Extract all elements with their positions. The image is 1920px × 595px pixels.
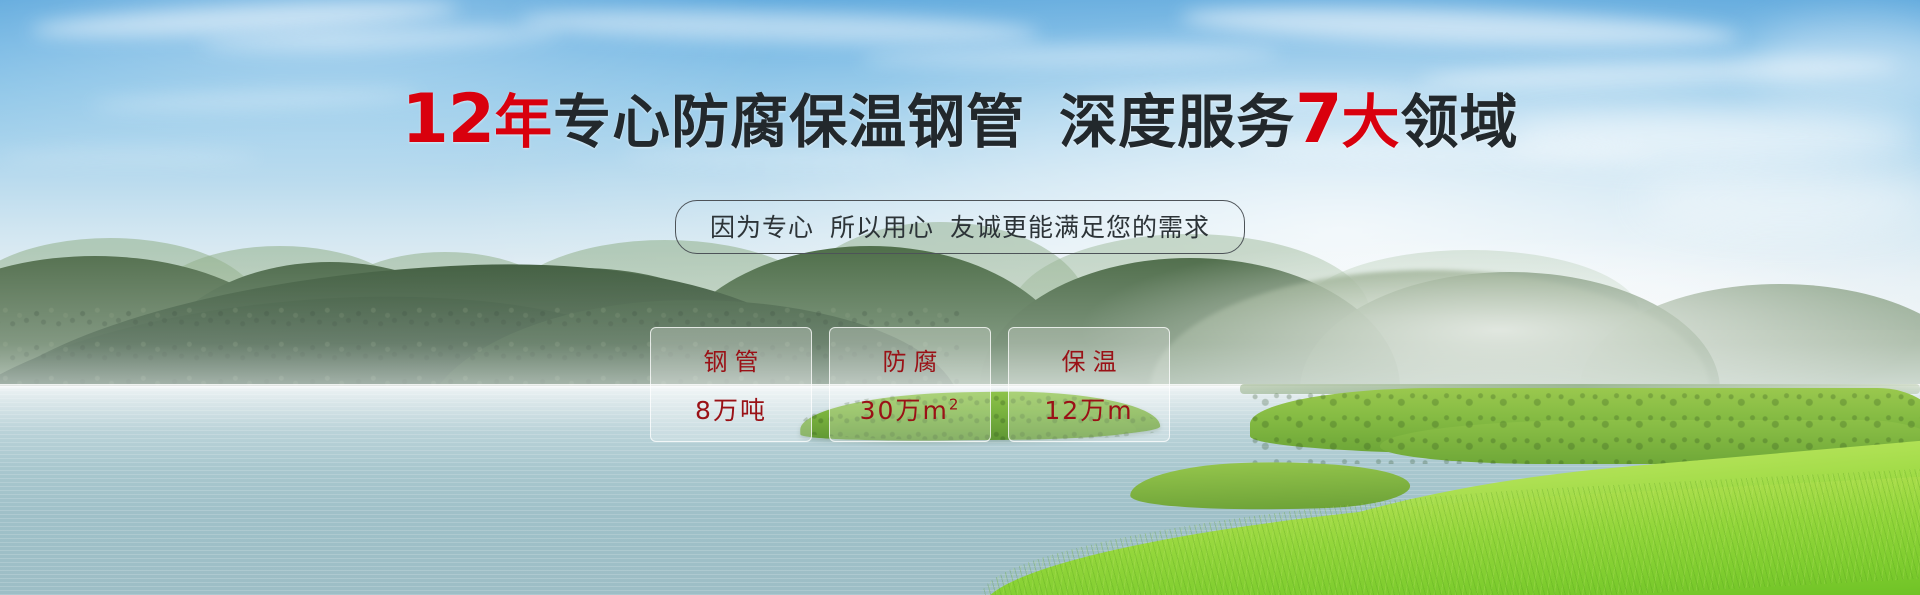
stat-card-label: 防腐 xyxy=(876,342,945,377)
headline-tail-text: 领域 xyxy=(1401,88,1519,156)
tagline-part-1: 因为专心 xyxy=(710,213,814,242)
headline-lead-unit: 年 xyxy=(494,88,553,156)
stat-card-value: 12万m xyxy=(1044,391,1133,427)
tagline-part-2: 所以用心 xyxy=(830,213,934,242)
stat-card-group: 钢管 8万吨 防腐 30万m2 保温 12万m xyxy=(650,327,1170,442)
headline-mid-text: 专心防腐保温钢管 xyxy=(553,88,1025,156)
stat-card-value-main: 30万m xyxy=(860,396,949,425)
stat-card-steel-pipe[interactable]: 钢管 8万吨 xyxy=(650,327,812,442)
banner-headline: 12年专心防腐保温钢管深度服务7大领域 xyxy=(0,86,1920,154)
stat-card-value: 8万吨 xyxy=(695,391,767,427)
stat-card-anticorrosion[interactable]: 防腐 30万m2 xyxy=(829,327,991,442)
stat-card-label: 保温 xyxy=(1055,342,1124,377)
stat-card-insulation[interactable]: 保温 12万m xyxy=(1008,327,1170,442)
headline-lead-number: 12 xyxy=(401,80,494,159)
stat-card-value-main: 12万m xyxy=(1044,396,1133,425)
hero-banner: 12年专心防腐保温钢管深度服务7大领域 因为专心所以用心友诚更能满足您的需求 钢… xyxy=(0,0,1920,595)
stat-card-value-superscript: 2 xyxy=(949,396,961,414)
stat-card-value-main: 8万吨 xyxy=(695,396,767,425)
tagline-pill: 因为专心所以用心友诚更能满足您的需求 xyxy=(675,200,1245,254)
stat-card-value: 30万m2 xyxy=(860,391,961,427)
headline-second-unit: 大 xyxy=(1341,88,1400,156)
tagline-part-3: 友诚更能满足您的需求 xyxy=(950,213,1210,242)
headline-second-text: 深度服务 xyxy=(1059,88,1295,156)
tagline-container: 因为专心所以用心友诚更能满足您的需求 xyxy=(0,200,1920,254)
headline-second-number: 7 xyxy=(1295,80,1341,159)
stat-card-label: 钢管 xyxy=(697,342,766,377)
